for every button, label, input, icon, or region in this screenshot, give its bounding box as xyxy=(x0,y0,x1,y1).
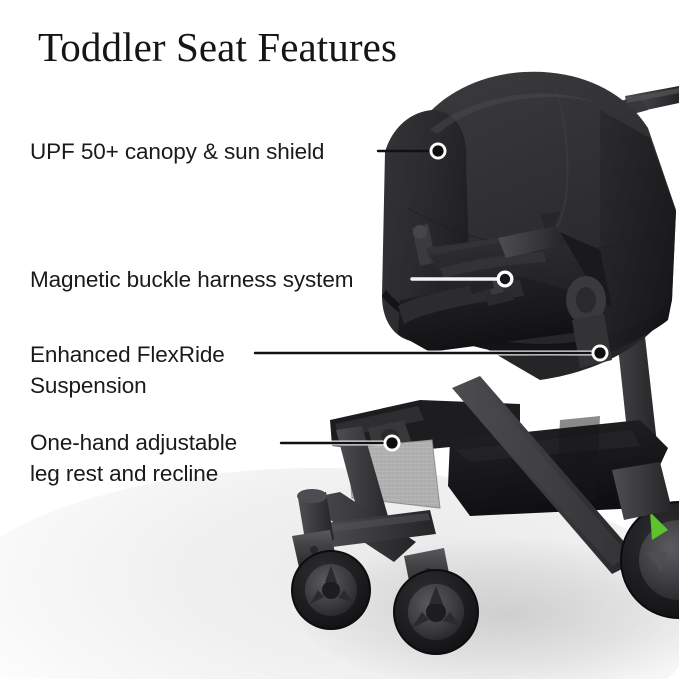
wheel-front-center xyxy=(394,570,478,654)
page-title: Toddler Seat Features xyxy=(38,23,397,71)
callout-label-canopy: UPF 50+ canopy & sun shield xyxy=(30,136,324,167)
frame-rear-axle xyxy=(612,462,672,520)
feature-diagram: Toddler Seat Features UPF 50+ canopy & s… xyxy=(0,0,679,679)
callout-label-flexride: Enhanced FlexRide Suspension xyxy=(30,339,225,401)
wheel-rear xyxy=(621,502,679,618)
callout-label-legrest: One-hand adjustable leg rest and recline xyxy=(30,427,237,489)
wheel-front-left xyxy=(292,551,370,629)
callout-label-harness: Magnetic buckle harness system xyxy=(30,264,353,295)
